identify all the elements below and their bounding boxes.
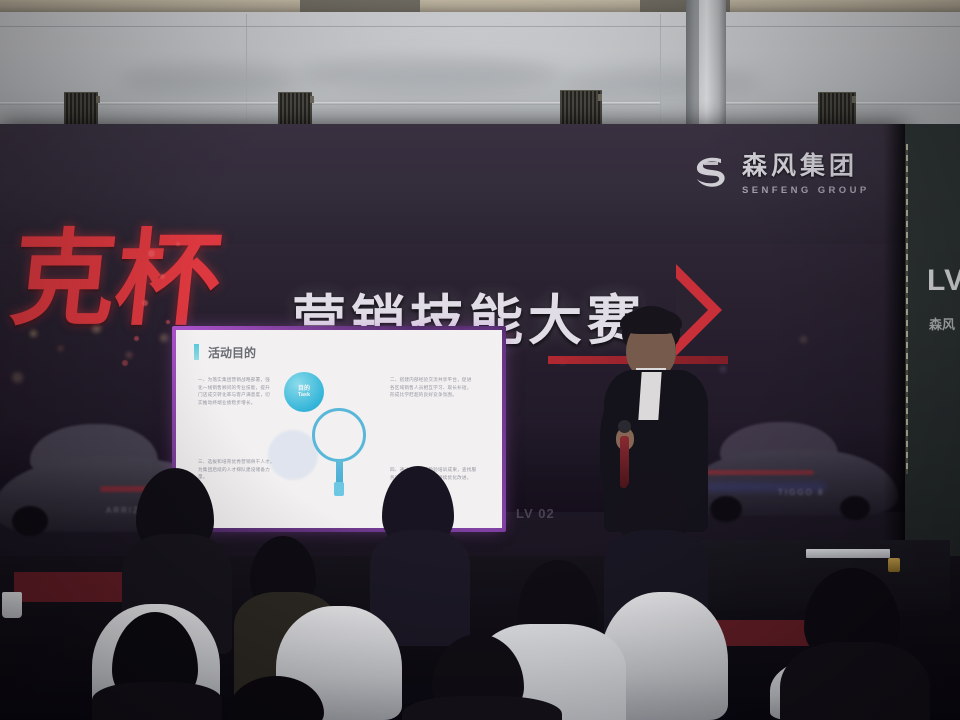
brand-logo: 森风集团 SENFENG GROUP bbox=[688, 146, 870, 196]
projection-screen[interactable]: 活动目的 目的 Task 一、为落实集团营销战略部署，强化一线销售顾问的专业技能… bbox=[176, 330, 502, 528]
slide-text-block-1: 一、为落实集团营销战略部署，强化一线销售顾问的专业技能，提升门店成交转化率与客户… bbox=[198, 376, 274, 406]
radiator-valve bbox=[598, 94, 602, 101]
banner-rope bbox=[906, 144, 908, 474]
car-model-label: TIGGO 8 bbox=[778, 488, 824, 497]
drinking-cup bbox=[2, 592, 22, 618]
magnifier-grip-icon bbox=[334, 482, 344, 496]
wall-stain bbox=[300, 58, 560, 92]
wall-seam bbox=[660, 14, 661, 124]
wall-radiator bbox=[818, 92, 856, 125]
presentation-slide: 活动目的 目的 Task 一、为落实集团营销战略部署，强化一线销售顾问的专业技能… bbox=[176, 330, 502, 528]
badge-line-2: Task bbox=[298, 392, 310, 398]
wall-stain bbox=[120, 66, 300, 96]
slide-title: 活动目的 bbox=[208, 344, 256, 361]
wall-radiator bbox=[278, 92, 312, 125]
purpose-badge: 目的 Task bbox=[284, 372, 324, 412]
slide-text-block-2: 二、搭建内部经验交流共享平台，促进各区域销售人员相互学习、取长补短，形成比学赶超… bbox=[390, 376, 476, 399]
microphone bbox=[620, 436, 629, 488]
backdrop-edge-shadow bbox=[883, 124, 905, 556]
trophy-object bbox=[888, 558, 900, 572]
table-paper bbox=[806, 549, 890, 558]
wall-seam bbox=[246, 14, 247, 124]
title-accent-bar bbox=[194, 344, 199, 360]
side-banner-brand: 森风 bbox=[929, 314, 955, 333]
photo-scene: ARRIZO 5 TIGGO 8 克杯 营销技能大赛 bbox=[0, 0, 960, 720]
backdrop-calligraphy: 克杯 bbox=[7, 232, 225, 326]
magnifier-ring-icon bbox=[312, 408, 366, 462]
microphone-head bbox=[618, 420, 631, 433]
s-swirl-logo-icon bbox=[688, 149, 732, 193]
radiator-valve bbox=[852, 96, 856, 103]
radiator-valve bbox=[310, 96, 314, 103]
slide-corner-mark: LV 02 bbox=[516, 506, 555, 521]
slide-text-block-3: 三、选拔和培育优秀营销骨干人才，为集团后续的人才梯队建设储备力量。 bbox=[198, 458, 278, 481]
side-banner: LV 森风 bbox=[905, 124, 960, 556]
presenter-hair-top bbox=[620, 308, 682, 334]
presenter-collar bbox=[638, 372, 661, 420]
logo-chinese-name: 森风集团 bbox=[742, 146, 870, 182]
side-banner-lv: LV bbox=[927, 264, 960, 298]
wall-seam bbox=[0, 26, 960, 27]
wall-radiator bbox=[560, 90, 602, 125]
column-shadow bbox=[686, 0, 699, 128]
wall-radiator bbox=[64, 92, 98, 125]
logo-english-name: SENFENG GROUP bbox=[742, 185, 870, 196]
radiator-valve bbox=[96, 96, 100, 103]
badge-line-1: 目的 bbox=[298, 386, 310, 393]
